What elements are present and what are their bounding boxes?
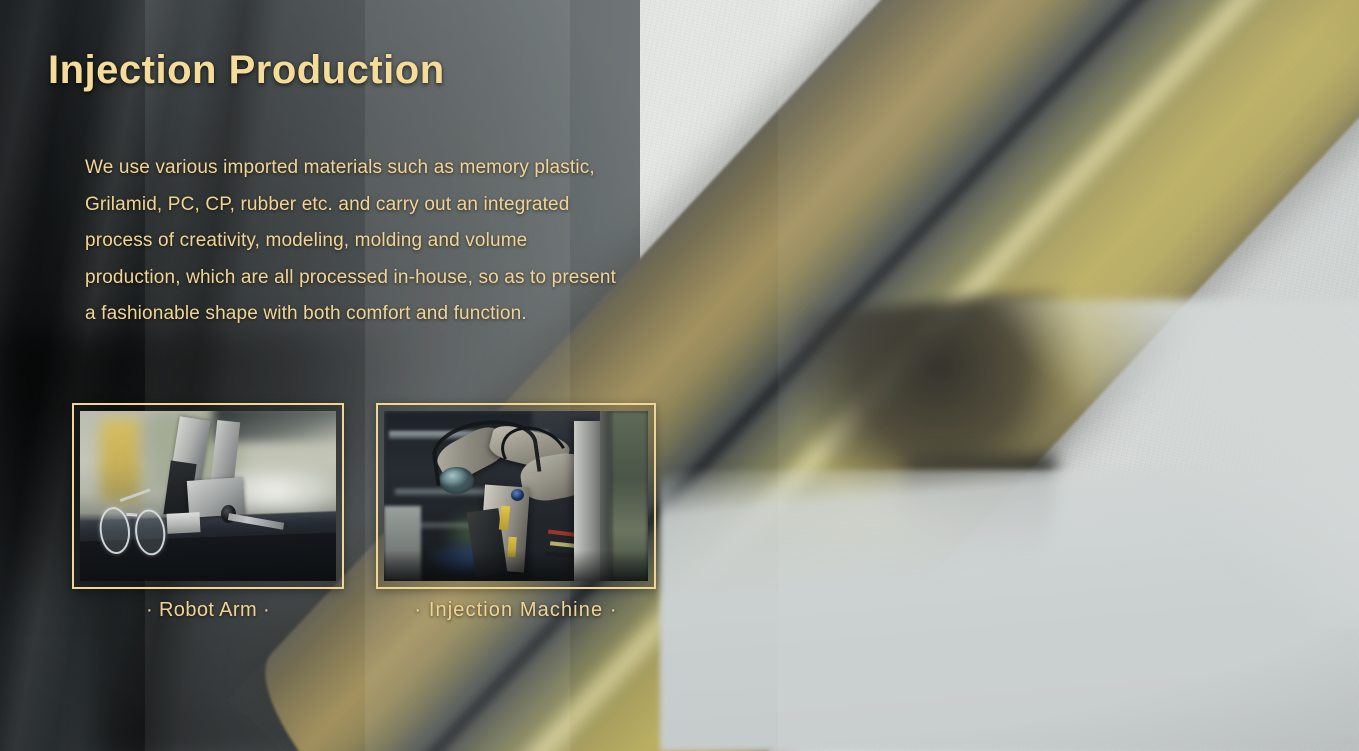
photo2-blue-sensor [511,489,524,501]
body-paragraph: We use various imported materials such a… [85,150,625,333]
thumbnail-caption-robot-arm: · Robot Arm · [72,599,344,622]
thumbnail-gallery: · Robot Arm · [72,403,656,622]
photo-injection-machine [384,411,648,581]
slide-canvas: Injection Production We use various impo… [0,0,1359,751]
thumbnail-caption-injection-machine: · Injection Machine · [376,599,656,622]
thumbnail-card-robot-arm[interactable]: · Robot Arm · [72,403,344,622]
photo1-yellow-blur [100,418,141,503]
thumbnail-card-injection-machine[interactable]: · Injection Machine · [376,403,656,622]
photo2-bottom-shadow [384,550,648,581]
photo1-gripper-pad [167,512,201,534]
thumbnail-frame-robot-arm[interactable] [72,403,344,589]
page-title: Injection Production [48,48,445,93]
slide-content: Injection Production We use various impo… [0,0,1359,751]
photo-robot-arm [80,411,336,581]
thumbnail-frame-injection-machine[interactable] [376,403,656,589]
photo1-lens-right [133,508,168,557]
photo1-lens-bridge [126,513,137,517]
photo1-eyeglass-frame [97,496,172,567]
